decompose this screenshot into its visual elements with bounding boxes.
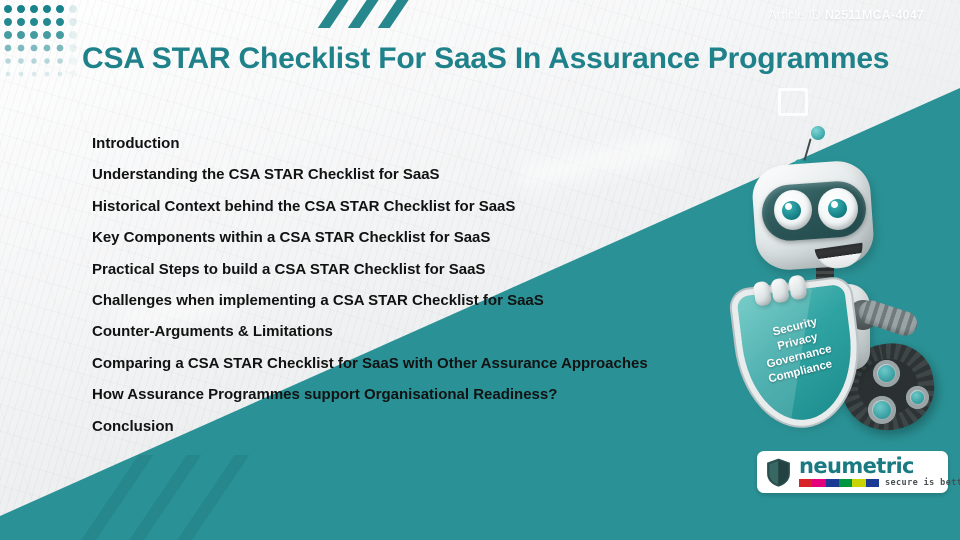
logo-text-block: neumetric secure is better	[799, 456, 960, 488]
shield-icon	[765, 457, 792, 488]
list-item[interactable]: Historical Context behind the CSA STAR C…	[92, 199, 752, 214]
slide-canvas: Article ID N2511MCA-4047 CSA STAR Checkl…	[0, 0, 960, 540]
robot-mascot-illustration: Security Privacy Governance Compliance	[730, 108, 960, 438]
wheel-roller	[868, 396, 896, 424]
list-item[interactable]: Challenges when implementing a CSA STAR …	[92, 293, 752, 308]
antenna-ball-icon	[811, 126, 825, 140]
wheel-roller	[873, 360, 900, 387]
list-item[interactable]: Understanding the CSA STAR Checklist for…	[92, 167, 752, 182]
wheel-roller	[906, 386, 929, 409]
robot-eye-glint	[831, 201, 838, 208]
dot-grid-decoration	[4, 5, 82, 83]
list-item[interactable]: Introduction	[92, 136, 752, 151]
list-item[interactable]: Conclusion	[92, 419, 752, 434]
article-id-value: N2511MCA-4047	[825, 8, 924, 22]
security-shield-icon	[736, 284, 859, 426]
list-item[interactable]: Comparing a CSA STAR Checklist for SaaS …	[92, 356, 752, 371]
diagonal-bars-top	[330, 0, 460, 30]
list-item[interactable]: How Assurance Programmes support Organis…	[92, 387, 752, 402]
article-id-label: Article ID	[768, 8, 821, 22]
list-item[interactable]: Practical Steps to build a CSA STAR Chec…	[92, 262, 752, 277]
rainbow-bar-icon	[799, 479, 879, 487]
logo-tagline: secure is better	[885, 478, 960, 488]
article-id: Article ID N2511MCA-4047	[768, 8, 924, 22]
table-of-contents: Introduction Understanding the CSA STAR …	[92, 136, 752, 450]
robot-eye-glint	[785, 203, 792, 210]
neumetric-logo[interactable]: neumetric secure is better	[757, 451, 948, 493]
list-item[interactable]: Key Components within a CSA STAR Checkli…	[92, 230, 752, 245]
logo-bottom-row: secure is better	[799, 478, 960, 488]
list-item[interactable]: Counter-Arguments & Limitations	[92, 324, 752, 339]
logo-wordmark: neumetric	[799, 456, 960, 477]
diagonal-bars-bottom	[88, 455, 288, 540]
page-title: CSA STAR Checklist For SaaS In Assurance…	[82, 42, 889, 76]
